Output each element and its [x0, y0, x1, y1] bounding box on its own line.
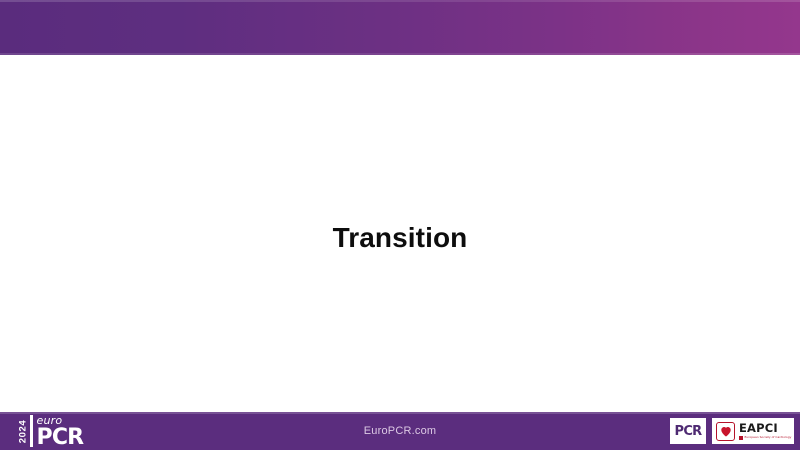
eapci-tagline-row: European Society of Cardiology — [739, 436, 791, 440]
heart-icon — [716, 422, 735, 441]
eapci-badge-label: EAPCI — [739, 423, 791, 435]
pcr-badge-label: PCR — [675, 424, 702, 439]
slide-content-area: Transition — [0, 55, 800, 412]
eapci-tagline-label: European Society of Cardiology — [745, 436, 792, 439]
eapci-text-block: EAPCI European Society of Cardiology — [739, 423, 791, 440]
top-banner-highlight-line — [0, 0, 800, 2]
slide-title: Transition — [0, 221, 800, 255]
slide-top-banner — [0, 0, 800, 55]
footer-top-edge-line — [0, 412, 800, 414]
eapci-badge[interactable]: EAPCI European Society of Cardiology — [712, 418, 794, 444]
footer-partner-badges: PCR EAPCI European Society of Cardiology — [670, 418, 794, 444]
pcr-badge[interactable]: PCR — [670, 418, 706, 444]
presentation-slide: Transition 2024 euro PCR EuroPCR.com PCR — [0, 0, 800, 450]
esc-mark-icon — [739, 436, 743, 440]
